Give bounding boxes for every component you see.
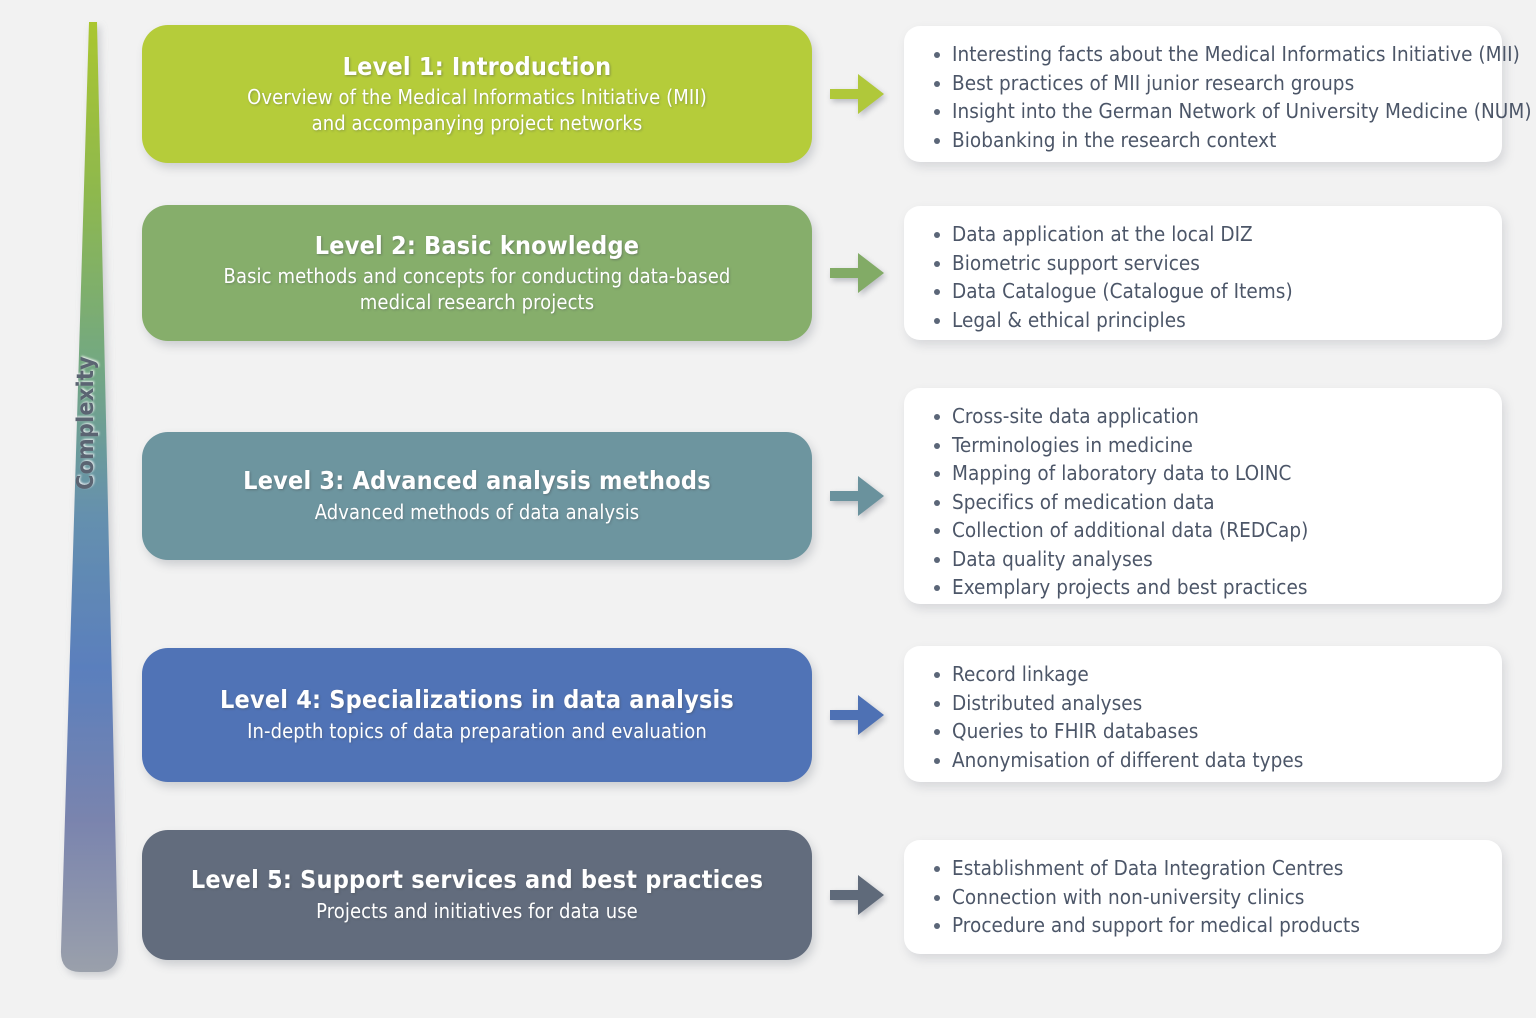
list-item: Data quality analyses (952, 545, 1482, 574)
topics-card-1: Interesting facts about the Medical Info… (904, 26, 1502, 162)
list-item: Terminologies in medicine (952, 431, 1482, 460)
level-subtitle-5: Projects and initiatives for data use (316, 899, 638, 925)
arrow-right-icon-2 (828, 249, 888, 297)
list-item: Distributed analyses (952, 689, 1482, 718)
list-item: Procedure and support for medical produc… (952, 911, 1482, 940)
level-box-5[interactable]: Level 5: Support services and best pract… (142, 830, 812, 960)
level-subtitle-2-line1: Basic methods and concepts for conductin… (224, 264, 731, 290)
level-box-1[interactable]: Level 1: Introduction Overview of the Me… (142, 25, 812, 163)
level-subtitle-5-line1: Projects and initiatives for data use (316, 899, 638, 925)
level-subtitle-2-line2: medical research projects (224, 290, 731, 316)
list-item: Interesting facts about the Medical Info… (952, 40, 1482, 69)
list-item: Anonymisation of different data types (952, 746, 1482, 775)
list-item: Biobanking in the research context (952, 126, 1482, 155)
list-item: Cross-site data application (952, 402, 1482, 431)
topics-list-5: Establishment of Data Integration Centre… (926, 854, 1482, 940)
list-item: Biometric support services (952, 249, 1482, 278)
level-subtitle-1-line2: and accompanying project networks (247, 111, 707, 137)
arrow-right-icon-5 (828, 871, 888, 919)
list-item: Best practices of MII junior research gr… (952, 69, 1482, 98)
topics-card-3: Cross-site data application Terminologie… (904, 388, 1502, 604)
arrow-right-icon-1 (828, 70, 888, 118)
arrow-right-icon-4 (828, 691, 888, 739)
level-box-4[interactable]: Level 4: Specializations in data analysi… (142, 648, 812, 782)
list-item: Data application at the local DIZ (952, 220, 1482, 249)
topics-card-5: Establishment of Data Integration Centre… (904, 840, 1502, 954)
level-title-2: Level 2: Basic knowledge (315, 231, 640, 261)
level-subtitle-1-line1: Overview of the Medical Informatics Init… (247, 85, 707, 111)
arrow-right-icon-3 (828, 472, 888, 520)
topics-card-2: Data application at the local DIZ Biomet… (904, 206, 1502, 340)
complexity-axis: Complexity (40, 20, 150, 980)
level-title-4: Level 4: Specializations in data analysi… (220, 685, 734, 715)
level-subtitle-4: In-depth topics of data preparation and … (247, 719, 707, 745)
list-item: Specifics of medication data (952, 488, 1482, 517)
level-box-2[interactable]: Level 2: Basic knowledge Basic methods a… (142, 205, 812, 341)
topics-card-4: Record linkage Distributed analyses Quer… (904, 646, 1502, 782)
level-title-3: Level 3: Advanced analysis methods (243, 466, 711, 496)
list-item: Exemplary projects and best practices (952, 573, 1482, 602)
level-title-5: Level 5: Support services and best pract… (191, 865, 763, 895)
list-item: Insight into the German Network of Unive… (952, 97, 1482, 126)
list-item: Legal & ethical principles (952, 306, 1482, 335)
list-item: Record linkage (952, 660, 1482, 689)
topics-list-2: Data application at the local DIZ Biomet… (926, 220, 1482, 334)
level-subtitle-3: Advanced methods of data analysis (315, 500, 640, 526)
list-item: Mapping of laboratory data to LOINC (952, 459, 1482, 488)
topics-list-3: Cross-site data application Terminologie… (926, 402, 1482, 602)
list-item: Connection with non-university clinics (952, 883, 1482, 912)
list-item: Collection of additional data (REDCap) (952, 516, 1482, 545)
complexity-label: Complexity (73, 333, 99, 513)
list-item: Establishment of Data Integration Centre… (952, 854, 1482, 883)
topics-list-1: Interesting facts about the Medical Info… (926, 40, 1482, 154)
level-subtitle-4-line1: In-depth topics of data preparation and … (247, 719, 707, 745)
diagram-canvas: Complexity Level 1: Introduction Overvie… (0, 0, 1536, 1018)
topics-list-4: Record linkage Distributed analyses Quer… (926, 660, 1482, 774)
level-title-1: Level 1: Introduction (343, 52, 612, 82)
level-box-3[interactable]: Level 3: Advanced analysis methods Advan… (142, 432, 812, 560)
level-subtitle-2: Basic methods and concepts for conductin… (224, 264, 731, 315)
list-item: Queries to FHIR databases (952, 717, 1482, 746)
level-subtitle-1: Overview of the Medical Informatics Init… (247, 85, 707, 136)
level-subtitle-3-line1: Advanced methods of data analysis (315, 500, 640, 526)
list-item: Data Catalogue (Catalogue of Items) (952, 277, 1482, 306)
